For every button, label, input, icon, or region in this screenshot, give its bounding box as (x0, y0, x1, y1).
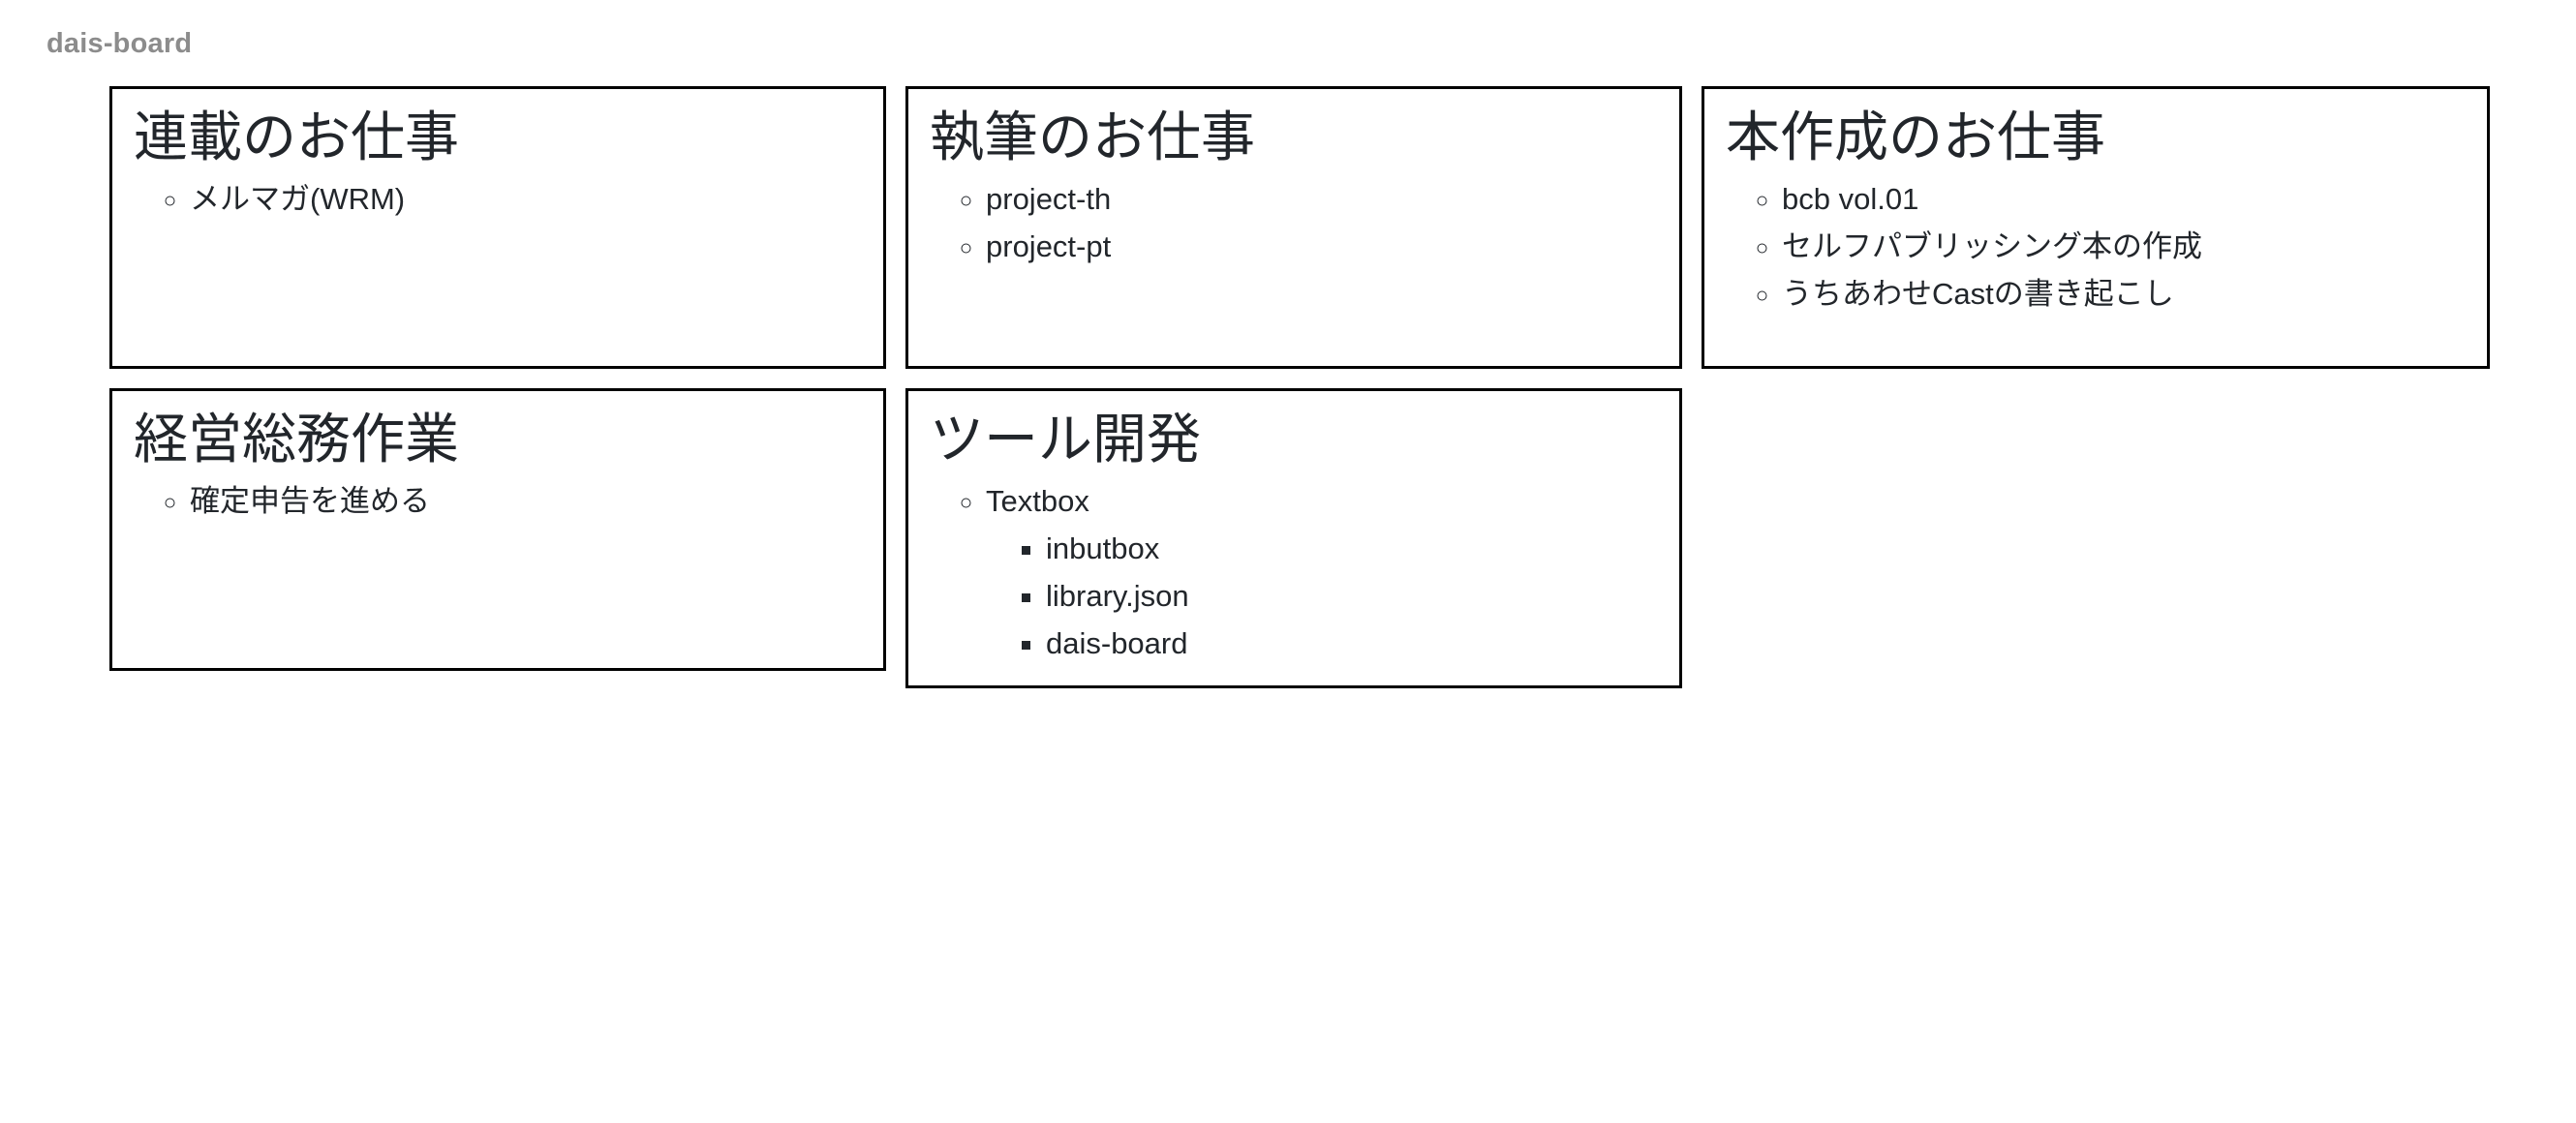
task-subitem[interactable]: dais-board (1046, 621, 1658, 668)
card-task-list: Textboxinbutboxlibrary.jsondais-board (930, 478, 1658, 668)
task-item-label: メルマガ(WRM) (190, 182, 405, 216)
card-title: 連載のお仕事 (134, 105, 862, 170)
task-subitem[interactable]: inbutbox (1046, 526, 1658, 573)
card-title: 執筆のお仕事 (930, 105, 1658, 170)
card-task-list: メルマガ(WRM) (134, 176, 862, 224)
task-item-label: bcb vol.01 (1782, 182, 1918, 216)
task-item[interactable]: project-pt (986, 224, 1658, 271)
task-item[interactable]: project-th (986, 176, 1658, 224)
page-title: dais-board (0, 0, 2576, 61)
task-subitem-label: library.json (1046, 579, 1189, 613)
task-subitem-label: inbutbox (1046, 531, 1159, 565)
task-item[interactable]: Textboxinbutboxlibrary.jsondais-board (986, 478, 1658, 668)
board-grid: 連載のお仕事メルマガ(WRM)執筆のお仕事project-thproject-p… (0, 61, 2576, 688)
task-item-label: project-pt (986, 229, 1111, 263)
card-task-list: bcb vol.01セルフパブリッシング本の作成うちあわせCastの書き起こし (1726, 176, 2466, 319)
task-subitem[interactable]: library.json (1046, 573, 1658, 621)
card-title: 本作成のお仕事 (1726, 105, 2466, 170)
board-card[interactable]: ツール開発Textboxinbutboxlibrary.jsondais-boa… (905, 388, 1682, 688)
board-card[interactable]: 経営総務作業確定申告を進める (109, 388, 886, 671)
task-item[interactable]: セルフパブリッシング本の作成 (1782, 224, 2466, 271)
task-item-label: セルフパブリッシング本の作成 (1782, 229, 2202, 263)
task-item[interactable]: うちあわせCastの書き起こし (1782, 271, 2466, 319)
task-item[interactable]: メルマガ(WRM) (190, 176, 862, 224)
task-subitem-label: dais-board (1046, 626, 1187, 660)
card-title: ツール開発 (930, 407, 1658, 472)
card-title: 経営総務作業 (134, 407, 862, 472)
task-subitem-list: inbutboxlibrary.jsondais-board (986, 526, 1658, 668)
board-card[interactable]: 本作成のお仕事bcb vol.01セルフパブリッシング本の作成うちあわせCast… (1702, 86, 2490, 369)
board-card[interactable]: 連載のお仕事メルマガ(WRM) (109, 86, 886, 369)
task-item-label: Textbox (986, 484, 1089, 518)
task-item-label: うちあわせCastの書き起こし (1782, 277, 2174, 311)
task-item-label: 確定申告を進める (190, 484, 430, 518)
task-item[interactable]: bcb vol.01 (1782, 176, 2466, 224)
card-task-list: project-thproject-pt (930, 176, 1658, 271)
task-item[interactable]: 確定申告を進める (190, 478, 862, 526)
board-card[interactable]: 執筆のお仕事project-thproject-pt (905, 86, 1682, 369)
app-root: dais-board 連載のお仕事メルマガ(WRM)執筆のお仕事project-… (0, 0, 2576, 688)
task-item-label: project-th (986, 182, 1111, 216)
card-task-list: 確定申告を進める (134, 478, 862, 526)
